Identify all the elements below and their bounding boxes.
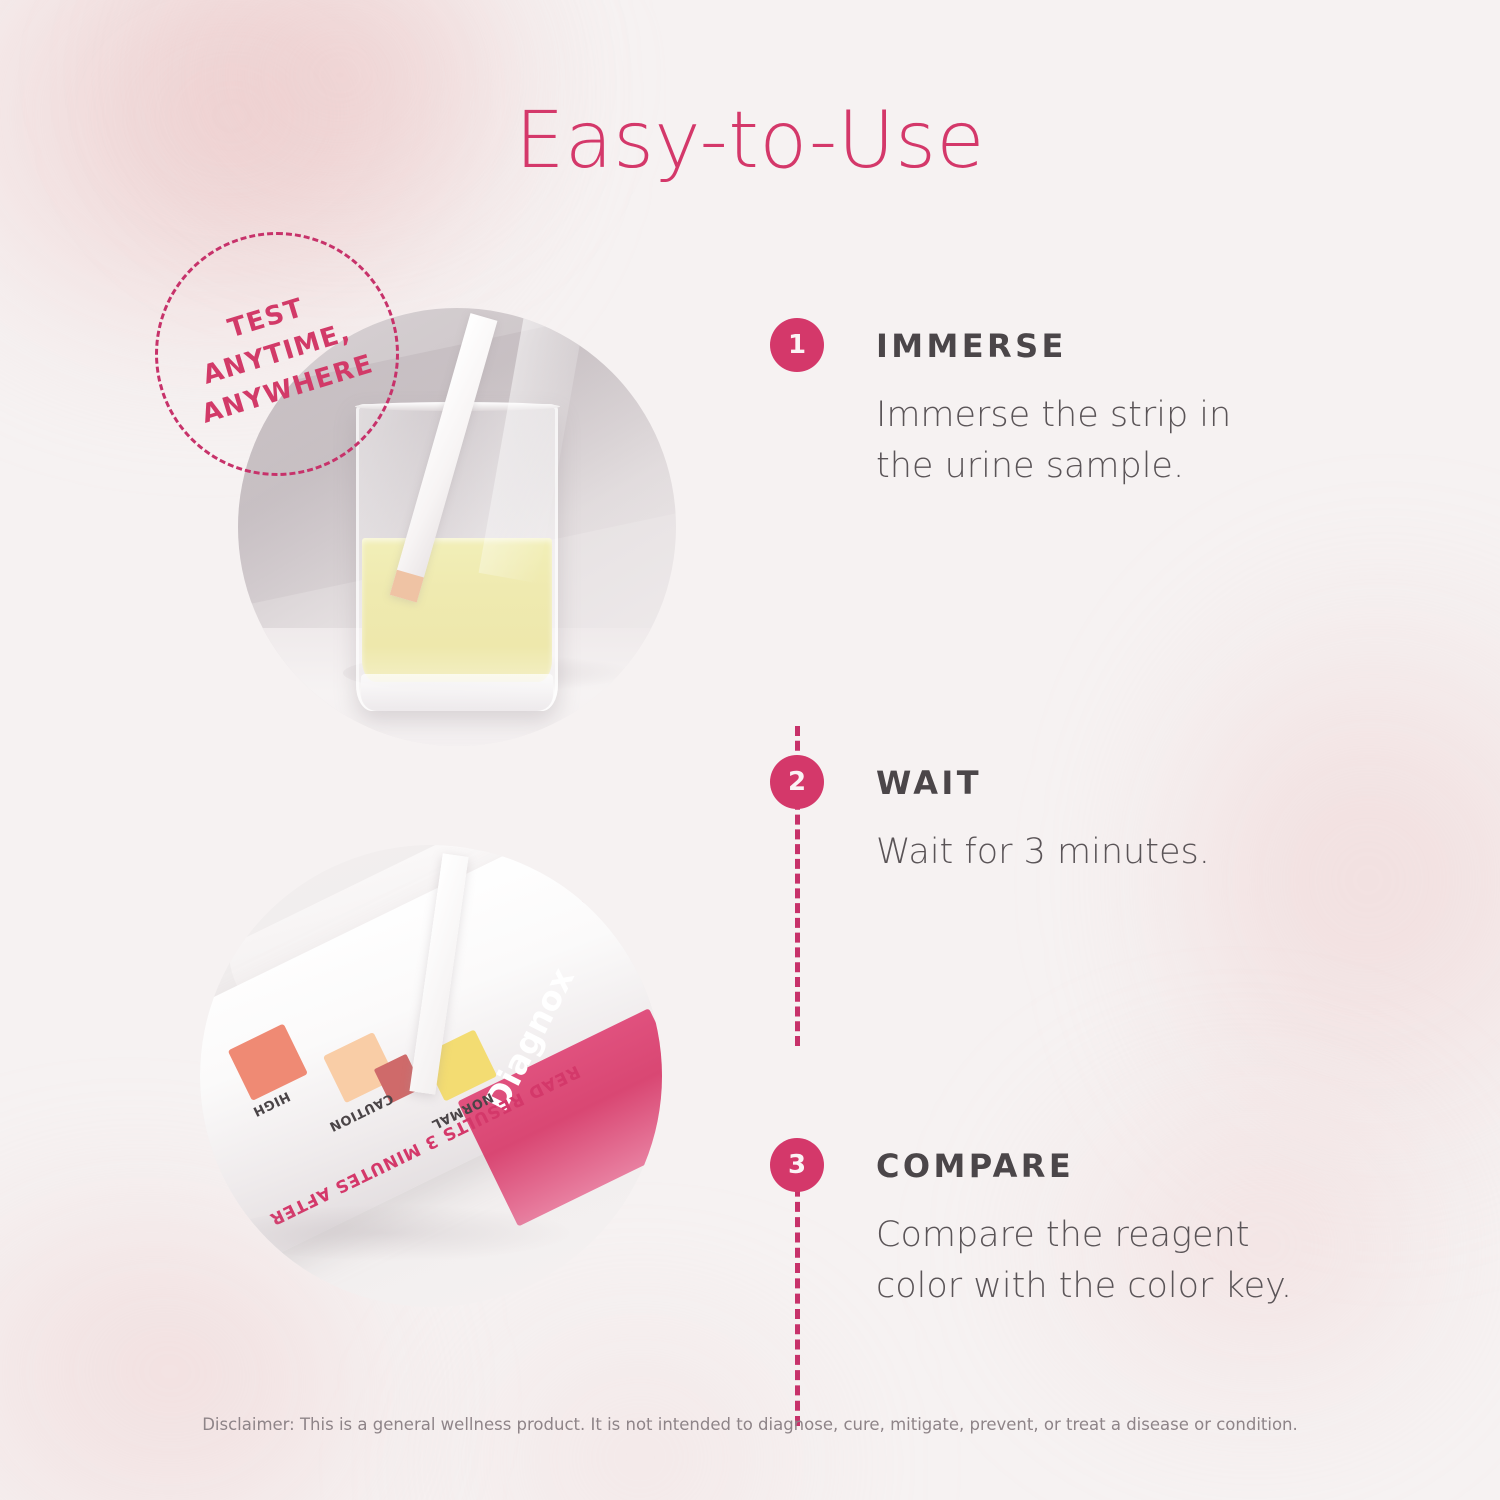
step-number-badge-2: 2 [770,755,824,809]
glass-base [361,674,554,711]
infographic-page: Easy-to-Use TEST ANYTIME, ANYWHERE Seve … [0,0,1500,1500]
step-description-immerse: Immerse the strip in the urine sample. [876,390,1330,492]
bottle-assembly: Seve Diagnox HIGH CAUTION NORMAL READ RE… [200,845,662,1307]
photo-bottle-color-key: Seve Diagnox HIGH CAUTION NORMAL READ RE… [200,845,662,1307]
step-item-compare: 3 COMPARE Compare the reagent color with… [770,1138,1330,1312]
step-header: 3 COMPARE [770,1138,1330,1192]
step-number-badge-1: 1 [770,318,824,372]
step-item-wait: 2 WAIT Wait for 3 minutes. [770,755,1330,878]
step-header: 1 IMMERSE [770,318,1330,372]
step-description-wait: Wait for 3 minutes. [876,827,1330,878]
bottle-drop-shadow [228,1205,570,1261]
step-title-compare: COMPARE [876,1138,1074,1185]
color-swatch-high [228,1023,308,1101]
step-header: 2 WAIT [770,755,1330,809]
page-title: Easy-to-Use [0,96,1500,186]
test-anytime-badge: TEST ANYTIME, ANYWHERE [155,232,399,476]
step-item-immerse: 1 IMMERSE Immerse the strip in the urine… [770,318,1330,492]
step-title-wait: WAIT [876,755,982,802]
step-description-compare: Compare the reagent color with the color… [876,1210,1330,1312]
step-number-badge-3: 3 [770,1138,824,1192]
background-bloom-right [1160,560,1500,1200]
color-key-label-caution: CAUTION [326,1090,395,1134]
step-title-immerse: IMMERSE [876,318,1067,365]
test-anytime-badge-label: TEST ANYTIME, ANYWHERE [176,275,378,433]
disclaimer-text: Disclaimer: This is a general wellness p… [0,1415,1500,1434]
background-bloom-bottom-center [430,1320,850,1500]
